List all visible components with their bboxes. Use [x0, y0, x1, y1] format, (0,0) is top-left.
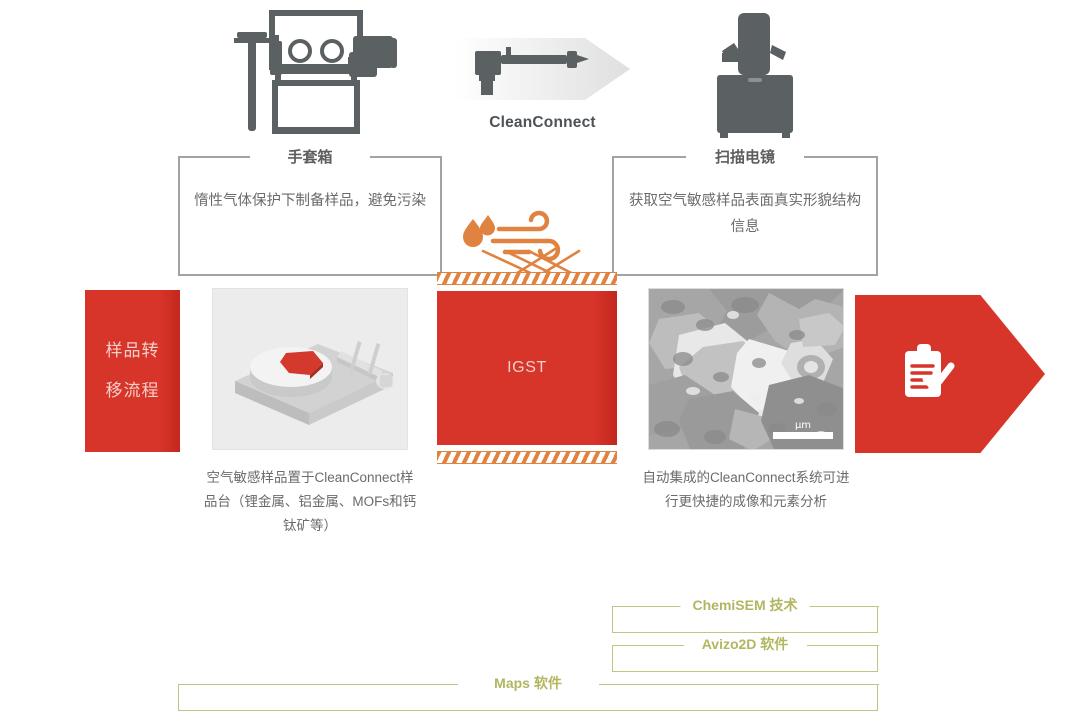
bracket-avizo: Avizo2D 软件 — [612, 646, 878, 672]
igst-box: IGST — [437, 291, 617, 445]
panel-title-glovebox: 手套箱 — [277, 146, 342, 167]
workflow-diagram: CleanConnect 手套箱 惰性气体保护下制备样品，避免污染 扫描电镜 获… — [0, 0, 1080, 722]
scanning-electron-microscope-icon — [700, 5, 810, 140]
process-start-tab: 样品转 移流程 — [85, 290, 180, 452]
moisture-and-air-icon — [455, 205, 595, 277]
scale-bar-label: µm — [773, 420, 833, 431]
process-result-arrow — [855, 295, 1045, 453]
caption-sem: 自动集成的CleanConnect系统可进行更快捷的成像和元素分析 — [636, 466, 856, 514]
sample-stage-image — [212, 288, 408, 450]
cleanconnect-arrow-shape — [455, 38, 630, 100]
panel-body-glovebox: 惰性气体保护下制备样品，避免污染 — [194, 188, 426, 214]
cleanconnect-block: CleanConnect — [455, 38, 630, 143]
process-start-line-1: 样品转 — [106, 331, 160, 371]
panel-title-sem: 扫描电镜 — [705, 146, 785, 167]
igst-label: IGST — [507, 359, 547, 377]
bracket-glovebox: 手套箱 惰性气体保护下制备样品，避免污染 — [178, 158, 442, 276]
cleanconnect-label: CleanConnect — [455, 114, 630, 132]
scale-bar-line — [773, 432, 833, 439]
bracket-sem: 扫描电镜 获取空气敏感样品表面真实形貌结构信息 — [612, 158, 878, 276]
software-label-avizo: Avizo2D 软件 — [690, 634, 801, 654]
bracket-maps: Maps 软件 — [178, 685, 878, 711]
software-label-maps: Maps 软件 — [482, 673, 574, 693]
clipboard-check-icon — [897, 342, 961, 406]
caption-glovebox: 空气敏感样品置于CleanConnect样品台（锂金属、铝金属、MOFs和钙钛矿… — [202, 466, 418, 538]
glovebox-icon — [220, 5, 415, 140]
sem-micrograph: µm — [648, 288, 844, 450]
hatch-stripe-top — [437, 272, 617, 285]
software-label-chemisem: ChemiSEM 技术 — [680, 595, 809, 615]
scale-bar: µm — [773, 420, 833, 439]
bracket-chemisem: ChemiSEM 技术 — [612, 607, 878, 633]
process-start-line-2: 移流程 — [106, 371, 160, 411]
panel-body-sem: 获取空气敏感样品表面真实形貌结构信息 — [628, 188, 862, 240]
igst-transfer-module: IGST — [437, 272, 617, 464]
hatch-stripe-bottom — [437, 451, 617, 464]
